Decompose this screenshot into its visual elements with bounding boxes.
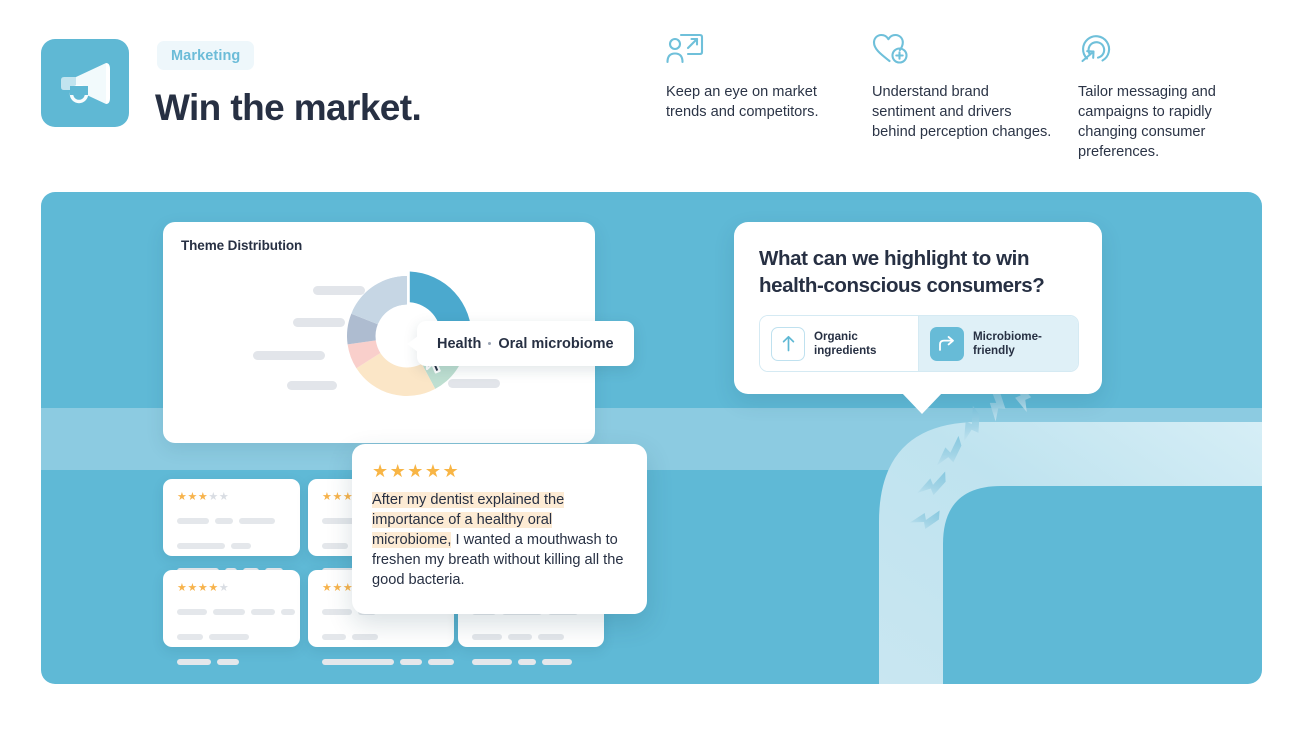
theme-distribution-card: Theme Distribution xyxy=(163,222,595,443)
feature-item-market-trends: Keep an eye on market trends and competi… xyxy=(666,32,872,162)
feature-item-tailor-messaging: Tailor messaging and campaigns to rapidl… xyxy=(1078,32,1284,162)
suggestion-chip-label: Organic ingredients xyxy=(814,330,907,358)
page-title: Win the market. xyxy=(155,88,421,129)
product-illustration-panel: Theme Distribution xyxy=(41,192,1262,684)
suggestion-chip-microbiome-friendly[interactable]: Microbiome-friendly xyxy=(919,316,1078,371)
highlighted-review-card[interactable]: ★★★★★ After my dentist explained the imp… xyxy=(352,444,647,614)
tooltip-value: Oral microbiome xyxy=(498,336,613,352)
tooltip-separator-dot xyxy=(488,342,491,345)
target-cursor-icon xyxy=(1078,32,1260,78)
theme-distribution-title: Theme Distribution xyxy=(181,238,302,253)
suggestion-chip-organic-ingredients[interactable]: Organic ingredients xyxy=(760,316,919,371)
category-badge-label: Marketing xyxy=(171,48,240,64)
feature-text: Keep an eye on market trends and competi… xyxy=(666,82,848,122)
megaphone-icon xyxy=(41,39,129,127)
page-header: Marketing Win the market. K xyxy=(0,0,1303,185)
feature-text: Understand brand sentiment and drivers b… xyxy=(872,82,1054,142)
rating-stars: ★★★★★ xyxy=(177,583,286,594)
list-item[interactable]: ★★★★★ xyxy=(163,570,300,647)
question-card-pointer xyxy=(901,392,943,414)
feature-list: Keep an eye on market trends and competi… xyxy=(666,32,1286,162)
feature-text: Tailor messaging and campaigns to rapidl… xyxy=(1078,82,1260,162)
suggestion-chip-label: Microbiome-friendly xyxy=(973,330,1067,358)
arrow-turn-right-icon xyxy=(930,327,964,361)
heart-plus-icon xyxy=(872,32,1054,78)
rating-stars: ★★★★★ xyxy=(372,461,627,481)
arrow-up-icon xyxy=(771,327,805,361)
audience-trend-icon xyxy=(666,32,848,78)
insight-question-title: What can we highlight to win health-cons… xyxy=(759,245,1081,299)
donut-tooltip: Health Oral microbiome xyxy=(417,321,634,366)
feature-item-brand-sentiment: Understand brand sentiment and drivers b… xyxy=(872,32,1078,162)
suggestion-chip-group: Organic ingredients Microbiome-friendly xyxy=(759,315,1079,372)
review-text: After my dentist explained the importanc… xyxy=(372,490,627,590)
insight-question-card: What can we highlight to win health-cons… xyxy=(734,222,1102,394)
category-badge: Marketing xyxy=(157,41,254,70)
tooltip-category: Health xyxy=(437,336,481,352)
list-item[interactable]: ★★★★★ xyxy=(163,479,300,556)
rating-stars: ★★★★★ xyxy=(177,492,286,503)
marketing-feature-page: Marketing Win the market. K xyxy=(0,0,1303,732)
